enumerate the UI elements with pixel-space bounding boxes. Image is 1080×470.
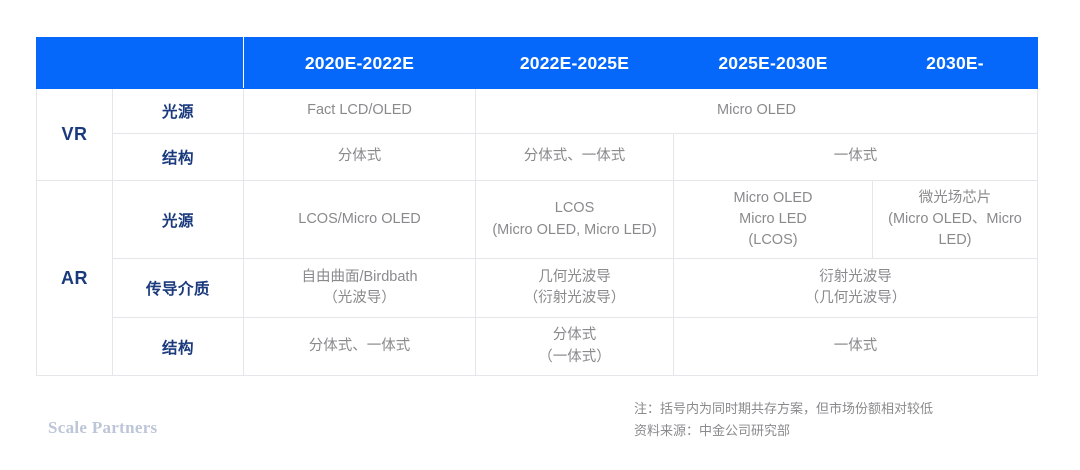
cell-ar-structure-p2: 分体式（一体式） [476,318,674,376]
cell-ar-light-source-p1: LCOS/Micro OLED [244,181,476,259]
cell-vr-structure-p2: 分体式、一体式 [476,134,674,181]
cell-vr-structure-p1: 分体式 [244,134,476,181]
attribute-label-ar-structure: 结构 [113,318,244,376]
attribute-label-vr-light-source: 光源 [113,89,244,134]
cell-ar-light-source-p3: Micro OLEDMicro LED(LCOS) [674,181,873,259]
header-cell-blank [37,38,244,89]
table-body: VR 光源 Fact LCD/OLED Micro OLED 结构 分体式 分体… [37,89,1038,376]
table-row: AR 光源 LCOS/Micro OLED LCOS(Micro OLED, M… [37,181,1038,259]
cell-vr-light-source-p1: Fact LCD/OLED [244,89,476,134]
header-cell-period-2: 2022E-2025E [476,38,674,89]
attribute-label-ar-optical-medium: 传导介质 [113,259,244,318]
cell-ar-optical-medium-p3to4: 衍射光波导（几何光波导） [674,259,1038,318]
table-header: 2020E-2022E 2022E-2025E 2025E-2030E 2030… [37,38,1038,89]
header-cell-period-4: 2030E- [873,38,1038,89]
cell-ar-structure-p3to4: 一体式 [674,318,1038,376]
header-row: 2020E-2022E 2022E-2025E 2025E-2030E 2030… [37,38,1038,89]
table-row: 结构 分体式、一体式 分体式（一体式） 一体式 [37,318,1038,376]
table-row: 传导介质 自由曲面/Birdbath（光波导） 几何光波导（衍射光波导） 衍射光… [37,259,1038,318]
attribute-label-ar-light-source: 光源 [113,181,244,259]
cell-ar-structure-p1: 分体式、一体式 [244,318,476,376]
footnote-source: 资料来源：中金公司研究部 [634,420,933,442]
cell-vr-light-source-p2to4: Micro OLED [476,89,1038,134]
cell-ar-light-source-p2: LCOS(Micro OLED, Micro LED) [476,181,674,259]
table-row: 结构 分体式 分体式、一体式 一体式 [37,134,1038,181]
cell-ar-optical-medium-p1: 自由曲面/Birdbath（光波导） [244,259,476,318]
cell-ar-optical-medium-p2: 几何光波导（衍射光波导） [476,259,674,318]
row-group-label-ar: AR [37,181,113,376]
table-row: VR 光源 Fact LCD/OLED Micro OLED [37,89,1038,134]
header-cell-period-1: 2020E-2022E [244,38,476,89]
cell-vr-structure-p3to4: 一体式 [674,134,1038,181]
header-cell-period-3: 2025E-2030E [674,38,873,89]
row-group-label-vr: VR [37,89,113,181]
slide-canvas: 2020E-2022E 2022E-2025E 2025E-2030E 2030… [0,0,1080,470]
brand-logo-text: Scale Partners [48,418,157,438]
attribute-label-vr-structure: 结构 [113,134,244,181]
roadmap-table: 2020E-2022E 2022E-2025E 2025E-2030E 2030… [36,37,1038,376]
cell-ar-light-source-p4: 微光场芯片(Micro OLED、Micro LED) [873,181,1038,259]
footnotes: 注：括号内为同时期共存方案，但市场份额相对较低 资料来源：中金公司研究部 [634,398,933,443]
footnote-note: 注：括号内为同时期共存方案，但市场份额相对较低 [634,398,933,420]
